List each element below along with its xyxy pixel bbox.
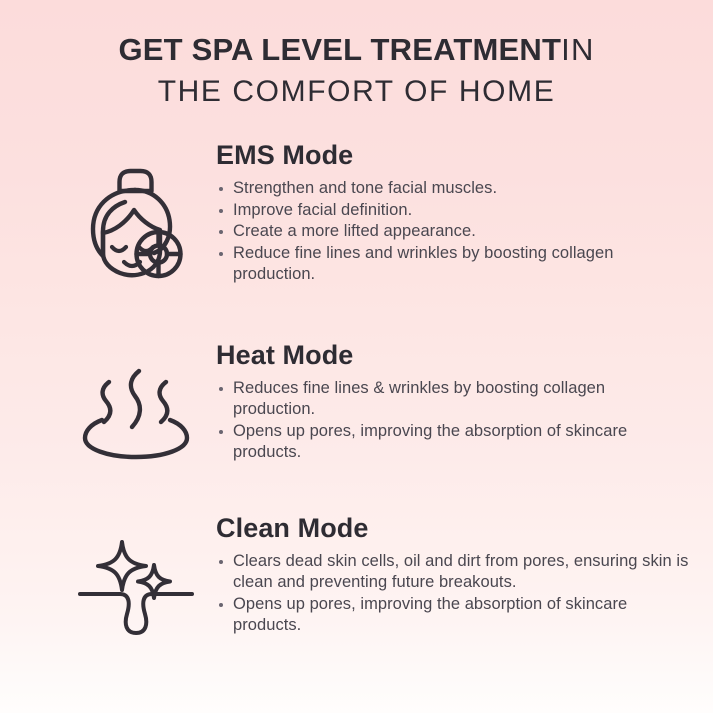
list-item: Improve facial definition. <box>216 200 691 222</box>
section-title-ems: EMS Mode <box>216 139 691 171</box>
hot-spring-steam-icon <box>81 363 191 463</box>
section-body-heat: Heat Mode Reduces fine lines & wrinkles … <box>216 339 691 464</box>
bullet-list-clean: Clears dead skin cells, oil and dirt fro… <box>216 551 691 637</box>
section-title-heat: Heat Mode <box>216 339 691 371</box>
section-title-clean: Clean Mode <box>216 512 691 544</box>
list-item: Reduces fine lines & wrinkles by boostin… <box>216 378 691 421</box>
icon-container-heat <box>56 339 216 463</box>
list-item: Strengthen and tone facial muscles. <box>216 178 691 200</box>
clean-pore-sparkle-icon <box>76 532 196 638</box>
bullet-list-ems: Strengthen and tone facial muscles. Impr… <box>216 178 691 286</box>
headline-line-2: THE COMFORT OF HOME <box>0 71 713 113</box>
page-title: GET SPA LEVEL TREATMENTIN THE COMFORT OF… <box>0 0 713 113</box>
promo-poster: GET SPA LEVEL TREATMENTIN THE COMFORT OF… <box>0 0 713 713</box>
feature-sections: EMS Mode Strengthen and tone facial musc… <box>0 139 713 638</box>
headline-line-1: GET SPA LEVEL TREATMENTIN <box>0 29 713 70</box>
list-item: Opens up pores, improving the absorption… <box>216 421 691 464</box>
section-body-clean: Clean Mode Clears dead skin cells, oil a… <box>216 512 691 637</box>
woman-face-device-icon <box>84 157 188 279</box>
icon-container-clean <box>56 512 216 638</box>
list-item: Opens up pores, improving the absorption… <box>216 594 691 637</box>
section-clean: Clean Mode Clears dead skin cells, oil a… <box>0 512 713 638</box>
section-ems: EMS Mode Strengthen and tone facial musc… <box>0 139 713 286</box>
bullet-list-heat: Reduces fine lines & wrinkles by boostin… <box>216 378 691 464</box>
list-item: Reduce fine lines and wrinkles by boosti… <box>216 243 691 286</box>
icon-container-ems <box>56 139 216 279</box>
headline-strong-text: GET SPA LEVEL TREATMENT <box>118 32 561 67</box>
list-item: Clears dead skin cells, oil and dirt fro… <box>216 551 691 594</box>
section-body-ems: EMS Mode Strengthen and tone facial musc… <box>216 139 691 286</box>
headline-light-text: IN <box>561 32 594 67</box>
list-item: Create a more lifted appearance. <box>216 221 691 243</box>
section-heat: Heat Mode Reduces fine lines & wrinkles … <box>0 339 713 464</box>
